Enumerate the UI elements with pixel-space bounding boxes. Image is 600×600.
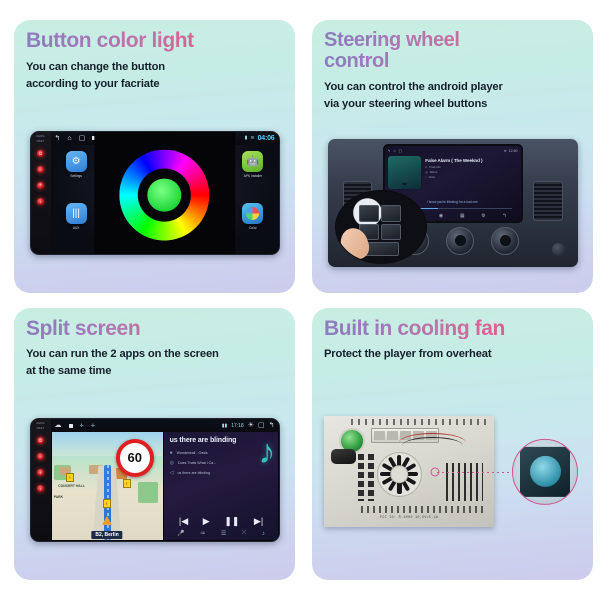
track-row[interactable]: ● Track info <box>425 166 517 169</box>
pause-icon[interactable]: ❚❚ <box>224 516 239 527</box>
play-icon[interactable]: ▶ <box>203 516 210 527</box>
track-row[interactable]: ♪ Artist <box>425 176 517 179</box>
track-row[interactable]: ◎ Album <box>425 170 517 174</box>
fan-closeup-image <box>520 447 570 497</box>
navigation-pane[interactable]: ! ! ! CONCERT HALL PARK 60 B2, Berlin <box>52 432 163 540</box>
android-icon: 🤖 <box>242 151 263 172</box>
card-media: CHKG CKEY ⏻ ⌂ ＋ ♪ ↰ ⌂ ▢ <box>26 101 283 285</box>
map-poi-label: PARK <box>54 495 63 499</box>
person-icon: ● <box>170 450 173 456</box>
now-playing: ◒ False Alarm ( The Weeknd ) ● Track inf… <box>388 156 518 190</box>
app-label: Color <box>249 226 257 230</box>
split-screen-display[interactable]: ☁ ✛ ✛ ▮▮ 17:18 ☀ ▢ ↰ <box>51 419 279 541</box>
card-description: You can change the button according to y… <box>26 59 283 93</box>
status-right: ▮▮ 17:18 ☀ ▢ ↰ <box>222 422 275 429</box>
internal-fan <box>377 452 423 498</box>
track-row-label: Track info <box>429 166 441 169</box>
volume-led-icon[interactable]: ＋ <box>37 469 44 476</box>
mute-led-icon[interactable]: ♪ <box>37 485 44 492</box>
app-label: Settings <box>70 174 82 178</box>
card-built-in-cooling-fan: Built in cooling fan Protect the player … <box>312 308 593 581</box>
rail-label-1: CKEY <box>37 427 45 432</box>
rail-led-buttons: ⏻ ⌂ ＋ ♪ <box>37 150 44 205</box>
swc-button-seek[interactable] <box>381 224 401 240</box>
track-rows: ● Track info ◎ Album ♪ Artist <box>425 166 517 179</box>
equalizer-icon: ||| <box>66 203 87 224</box>
air-vent-right-icon <box>533 181 563 221</box>
card-title: Built in cooling fan <box>324 318 581 340</box>
mute-led-icon[interactable]: ♪ <box>37 198 44 205</box>
heatsink-slots <box>358 454 364 501</box>
rail-led-buttons: ⏻ ⌂ ＋ ♪ <box>37 437 44 492</box>
volume-led-icon[interactable]: ＋ <box>37 182 44 189</box>
list-item[interactable]: ◁ us there are blinding <box>170 470 273 476</box>
cast-icon: ✛ <box>91 423 95 429</box>
home-led-icon[interactable]: ⌂ <box>37 453 44 460</box>
mic-icon[interactable]: 🎤 <box>177 530 184 537</box>
list-item-label: us there are blinding <box>177 471 210 475</box>
card-title: Steering wheel control <box>324 30 581 72</box>
split-panes: ! ! ! CONCERT HALL PARK 60 B2, Berlin ♪ … <box>52 432 278 540</box>
card-description: Protect the player from overheat <box>324 346 581 363</box>
speaker-icon: ♪ <box>425 176 426 179</box>
list-icon[interactable]: ☰ <box>221 530 226 537</box>
fan-hub <box>391 466 409 484</box>
heatsink-slots <box>368 454 374 501</box>
track-meta: False Alarm ( The Weeknd ) ● Track info … <box>425 156 517 190</box>
back-icon[interactable]: ↰ <box>388 149 391 153</box>
list-item[interactable]: ● Wonderwall - Oasis <box>170 450 273 456</box>
rear-slots <box>446 463 483 501</box>
card-media: ↰ ⌂ ▢ ≋ 12:40 ◒ False Alarm ( The Weeknd… <box>324 121 581 285</box>
rail-label-1: CKEY <box>37 140 45 145</box>
signal-icon: ▮ <box>245 135 248 141</box>
list-item-label: Does Thats What I Ca... <box>178 461 216 465</box>
power-led-icon[interactable]: ⏻ <box>37 437 44 444</box>
back-icon[interactable]: ↰ <box>502 213 506 219</box>
playback-controls: |◀ ▶ ❚❚ ▶| <box>170 513 273 530</box>
speaker-icon: ◁ <box>170 470 174 476</box>
shuffle-icon[interactable]: ⤫ <box>242 530 247 537</box>
bluetooth-icon: ✛ <box>80 423 84 429</box>
head-unit-device-split: CHKG CKEY ⏻ ⌂ ＋ ♪ ☁ ✛ ✛ <box>30 418 280 542</box>
black-connector <box>331 449 356 464</box>
recents-icon[interactable]: ▢ <box>399 149 402 153</box>
app-item-color[interactable]: Color <box>232 203 273 254</box>
head-unit-side-rail: CHKG CKEY ⏻ ⌂ ＋ ♪ <box>31 419 51 541</box>
car-settings-icon: ⚙ <box>66 151 87 172</box>
music-track-title: us there are blinding <box>170 437 273 444</box>
cloud-icon[interactable]: ☁ <box>55 422 62 429</box>
recents-icon[interactable]: ▢ <box>79 135 86 142</box>
split-clock: 17:18 <box>231 423 244 429</box>
stop-icon[interactable] <box>69 424 73 428</box>
note-icon[interactable]: ♪ <box>262 531 265 537</box>
disc-icon: ◎ <box>170 460 174 466</box>
track-title: False Alarm ( The Weeknd ) <box>425 158 517 163</box>
back-icon[interactable]: ↰ <box>55 135 61 142</box>
swc-button-mode[interactable] <box>381 205 401 221</box>
mode-knob[interactable] <box>446 227 474 255</box>
map-position-arrow <box>102 516 112 525</box>
head-unit-device: CHKG CKEY ⏻ ⌂ ＋ ♪ ↰ ⌂ ▢ <box>30 131 280 255</box>
speed-limit-sign: 60 <box>116 439 154 477</box>
card-description: You can control the android player via y… <box>324 79 581 113</box>
signal-icon: ▮▮ <box>222 423 228 429</box>
dash-status-bar: ↰ ⌂ ▢ ≋ 12:40 <box>388 149 518 153</box>
brightness-icon[interactable]: ☀ <box>248 422 254 429</box>
fan-closeup-callout <box>512 439 578 505</box>
card-title: Button color light <box>26 30 283 52</box>
disc-icon: ◎ <box>425 170 427 174</box>
board-label-text: FCC ID: R-1000 10.5V=5.2A <box>380 516 438 520</box>
status-right: ▮ ≋ 04:06 <box>245 135 275 142</box>
head-unit-screen[interactable]: ↰ ⌂ ▢ ▮ ≋ 04:06 ⌄ ⚙ Se <box>51 132 279 254</box>
head-unit-side-rail: CHKG CKEY ⏻ ⌂ ＋ ♪ <box>31 132 51 254</box>
fan-knob[interactable] <box>491 227 519 255</box>
callout-dotted-line <box>437 472 512 473</box>
map-warning-sign: ! <box>66 473 74 482</box>
map-green-area <box>138 482 158 504</box>
wifi-icon: ≋ <box>504 149 507 153</box>
map-poi-label: CONCERT HALL <box>58 484 85 488</box>
card-button-color-light: Button color light You can change the bu… <box>14 20 295 293</box>
map-warning-sign: ! <box>103 499 111 508</box>
card-media: FCC ID: R-1000 10.5V=5.2A <box>324 371 581 572</box>
track-row-label: Album <box>430 171 438 174</box>
radio-icon[interactable]: ◉ <box>439 213 443 219</box>
next-icon[interactable]: ▶| <box>254 516 263 527</box>
album-art: ◒ <box>388 156 422 190</box>
card-description: You can run the 2 apps on the screen at … <box>26 346 283 380</box>
aux-knob[interactable] <box>552 243 565 256</box>
map-warning-sign: ! <box>123 479 131 488</box>
card-steering-wheel-control: Steering wheel control You can control t… <box>312 20 593 293</box>
home-icon[interactable]: ⌂ <box>393 149 395 153</box>
home-led-icon[interactable]: ⌂ <box>37 166 44 173</box>
board-vent-holes <box>351 419 487 425</box>
color-picker-overlay[interactable] <box>94 132 235 254</box>
recents-icon[interactable]: ▢ <box>258 422 265 429</box>
steering-wheel-control-closeup <box>335 190 427 264</box>
feature-card-grid: Button color light You can change the bu… <box>0 0 600 600</box>
previous-icon[interactable]: |◀ <box>179 516 188 527</box>
app-item-settings[interactable]: ⚙ Settings <box>56 151 97 202</box>
back-icon[interactable]: ↰ <box>269 422 275 429</box>
app-item-aux[interactable]: ||| AUX <box>56 203 97 254</box>
music-footer-bar: 🎤 ♒ ☰ ⤫ ♪ <box>170 530 273 538</box>
power-led-icon[interactable]: ⏻ <box>37 150 44 157</box>
dash-status-right: ≋ 12:40 <box>504 149 518 153</box>
home-icon[interactable]: ⌂ <box>67 135 71 142</box>
eq-icon[interactable]: ♒ <box>200 530 205 537</box>
color-pie-icon <box>242 203 263 224</box>
dash-clock: 12:40 <box>509 149 518 153</box>
selected-color-swatch[interactable] <box>148 178 182 212</box>
music-pane[interactable]: ♪ us there are blinding ● Wonderwall - O… <box>164 432 278 540</box>
car-dashboard-photo: ↰ ⌂ ▢ ≋ 12:40 ◒ False Alarm ( The Weeknd… <box>328 139 578 267</box>
app-label: AUX <box>73 226 80 230</box>
list-item[interactable]: ◎ Does Thats What I Ca... <box>170 460 273 466</box>
app-label: APK installer <box>244 174 262 178</box>
swc-button-volume-up[interactable] <box>359 205 379 221</box>
bottom-connector-teeth <box>361 506 483 513</box>
wifi-icon: ≋ <box>250 135 254 141</box>
music-row-list: ● Wonderwall - Oasis ◎ Does Thats What I… <box>170 450 273 476</box>
card-split-screen: Split screen You can run the 2 apps on t… <box>14 308 295 581</box>
status-bar: ☁ ✛ ✛ ▮▮ 17:18 ☀ ▢ ↰ <box>51 419 279 432</box>
track-row-label: Artist <box>429 176 435 179</box>
color-wheel[interactable] <box>108 139 221 252</box>
list-item-label: Wonderwall - Oasis <box>177 451 208 455</box>
app-item-apk-installer[interactable]: 🤖 APK installer <box>232 151 273 202</box>
street-name-label: B2, Berlin <box>91 531 122 539</box>
cooling-fan-photo: FCC ID: R-1000 10.5V=5.2A <box>324 371 581 572</box>
apps-icon[interactable]: ▦ <box>460 213 465 219</box>
card-title: Split screen <box>26 318 283 340</box>
status-clock: 04:06 <box>258 135 275 142</box>
card-media: CHKG CKEY ⏻ ⌂ ＋ ♪ ☁ ✛ ✛ <box>26 388 283 572</box>
settings-icon[interactable]: ⚙ <box>481 213 485 219</box>
person-icon: ● <box>425 166 427 169</box>
